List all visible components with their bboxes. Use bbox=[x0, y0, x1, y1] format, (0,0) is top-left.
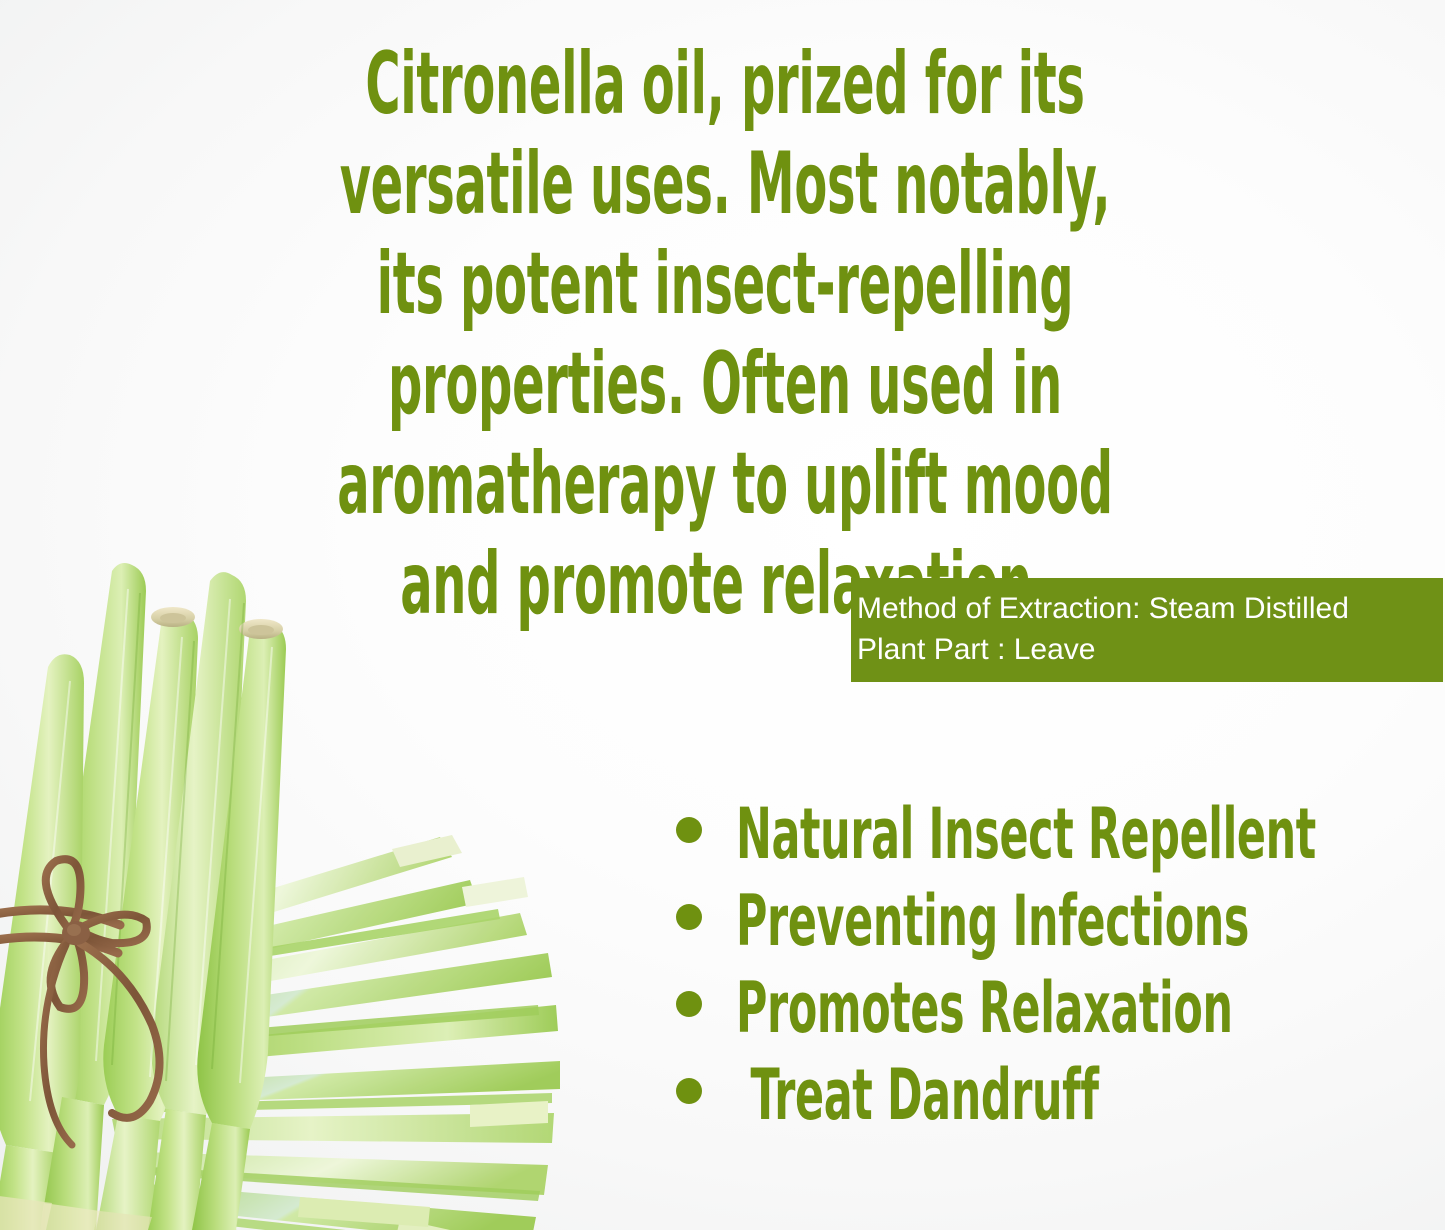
benefit-label: Promotes Relaxation bbox=[736, 969, 1233, 1047]
extraction-info-box: Method of Extraction: Steam Distilled Pl… bbox=[851, 578, 1443, 682]
bullet-dot-icon bbox=[676, 817, 702, 843]
poster-canvas: Citronella oil, prized for its versatile… bbox=[0, 0, 1445, 1230]
benefits-list: Natural Insect Repellent Preventing Infe… bbox=[660, 795, 1440, 1143]
list-item: Preventing Infections bbox=[660, 882, 1440, 969]
benefit-label: Treat Dandruff bbox=[736, 1056, 1099, 1134]
benefit-label: Natural Insect Repellent bbox=[736, 795, 1316, 873]
bullet-dot-icon bbox=[676, 904, 702, 930]
list-item: Treat Dandruff bbox=[660, 1056, 1440, 1143]
plant-part-line: Plant Part : Leave bbox=[857, 629, 1443, 670]
benefit-label: Preventing Infections bbox=[736, 882, 1249, 960]
bullet-dot-icon bbox=[676, 991, 702, 1017]
page-title: Citronella oil, prized for its versatile… bbox=[324, 34, 1126, 634]
list-item: Natural Insect Repellent bbox=[660, 795, 1440, 882]
method-of-extraction-line: Method of Extraction: Steam Distilled bbox=[857, 588, 1443, 629]
list-item: Promotes Relaxation bbox=[660, 969, 1440, 1056]
bullet-dot-icon bbox=[676, 1078, 702, 1104]
